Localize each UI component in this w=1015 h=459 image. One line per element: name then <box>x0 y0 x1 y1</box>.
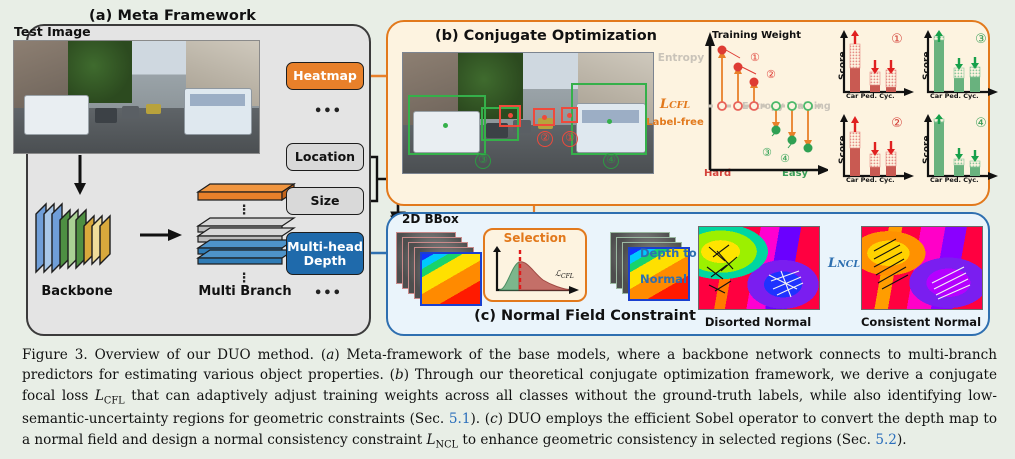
loss-cfl-label: LCFL <box>644 97 706 112</box>
score-chart-2-ylabel: Score <box>838 135 848 164</box>
loss-cfl-subscript: CFL <box>669 100 690 111</box>
svg-text:③: ③ <box>762 146 772 159</box>
consistent-normal-image <box>861 226 983 310</box>
loss-ncl-symbol: L <box>828 256 837 271</box>
score-chart-2-badge: ② <box>890 118 904 132</box>
depth-map-stack-selected <box>610 232 694 304</box>
depth-to-label: Depth to <box>640 246 697 260</box>
svg-text:①: ① <box>750 51 760 64</box>
red-dot-2 <box>542 115 547 120</box>
caption-s5: ). ( <box>471 411 491 427</box>
bbox-label: 2D BBox <box>402 212 459 226</box>
depth-map-stack-input <box>396 232 480 304</box>
caption-loss-ncl: L <box>426 432 435 448</box>
link-sec-5-2[interactable]: 5.2 <box>875 432 897 448</box>
link-sec-5-1[interactable]: 5.1 <box>449 411 471 427</box>
caption-s7: to enhance geometric consistency in sele… <box>458 432 875 448</box>
marker-circle-1: ① <box>562 131 578 147</box>
score-chart-1-ylabel: Score <box>838 51 848 80</box>
training-weight-plot: ① ② ③ ④ <box>700 28 828 188</box>
score-chart-2-xlabels: Car Ped. Cyc. <box>846 176 895 184</box>
multi-branch-label: Multi Branch <box>165 284 325 299</box>
head-location[interactable]: Location <box>286 143 364 171</box>
backbone-stack <box>32 196 132 280</box>
head-multi-head-depth[interactable]: Multi-head Depth <box>286 232 364 275</box>
score-chart-3: Score Car Ped. Cyc. ③ <box>912 30 1000 108</box>
score-chart-4-ylabel: Score <box>922 135 932 164</box>
head-heatmap[interactable]: Heatmap <box>286 62 364 90</box>
score-chart-1-xlabels: Car Ped. Cyc. <box>846 92 895 100</box>
caption-loss-ncl-sub: NCL <box>436 439 459 450</box>
score-chart-3-ylabel: Score <box>922 51 932 80</box>
selection-title: Selection <box>492 231 578 245</box>
test-image-label: Test Image <box>14 24 91 39</box>
svg-text:⋮: ⋮ <box>238 203 251 218</box>
head-size[interactable]: Size <box>286 187 364 215</box>
loss-ncl-subscript: NCL <box>837 259 860 270</box>
panel-a-title: (a) Meta Framework <box>0 8 345 24</box>
score-chart-3-xlabels: Car Ped. Cyc. <box>930 92 979 100</box>
red-dot-2b <box>508 113 513 118</box>
marker-circle-2: ② <box>537 131 553 147</box>
caption-s1: Figure 3. Overview of our DUO method. ( <box>22 347 326 363</box>
score-chart-2: Score Car Ped. Cyc. ② <box>828 114 916 192</box>
loss-cfl-symbol: L <box>660 97 669 112</box>
marker-circle-4: ④ <box>603 153 619 169</box>
score-chart-4-xlabels: Car Ped. Cyc. <box>930 176 979 184</box>
caption-s8: ). <box>897 432 907 448</box>
caption-loss-cfl: L <box>95 388 104 404</box>
green-dot-4 <box>607 119 612 124</box>
multi-branch-stack: ⋮ ⋮ <box>190 178 300 288</box>
disorted-normal-label: Disorted Normal <box>692 315 824 329</box>
marker-circle-3: ③ <box>475 153 491 169</box>
head-depth-line2: Depth <box>304 254 347 267</box>
score-chart-3-badge: ③ <box>974 34 988 48</box>
arrow-image-to-backbone <box>70 155 90 197</box>
score-chart-4: Score Car Ped. Cyc. ④ <box>912 114 1000 192</box>
figure-root: (a) Meta Framework Test Image Back <box>0 0 1015 459</box>
green-dot-3 <box>443 123 448 128</box>
red-dot-1 <box>567 113 572 118</box>
selection-histogram: ℒ CFL <box>489 246 581 300</box>
head-depth-line1: Multi-head <box>287 240 363 253</box>
label-free-label: Label-free <box>642 117 708 128</box>
normal-label: Normal <box>640 272 687 286</box>
loss-ncl-label: LNCL <box>814 256 874 271</box>
svg-text:②: ② <box>766 68 776 81</box>
panel-b-title: (b) Conjugate Optimization <box>386 28 706 44</box>
svg-text:④: ④ <box>780 152 790 165</box>
backbone-label: Backbone <box>12 284 142 299</box>
score-chart-1: Score Car Ped. Cyc. ① <box>828 30 916 108</box>
caption-loss-cfl-sub: CFL <box>104 396 125 407</box>
consistent-normal-label: Consistent Normal <box>855 315 987 329</box>
disorted-normal-image <box>698 226 820 310</box>
test-image <box>13 40 260 154</box>
figure-caption: Figure 3. Overview of our DUO method. (a… <box>22 345 997 453</box>
panel-b-annotated-image: ② ① ③ ④ <box>402 52 654 174</box>
arrow-backbone-to-branch <box>140 228 184 242</box>
score-chart-4-badge: ④ <box>974 118 988 132</box>
head-dots-bottom: ••• <box>314 286 342 301</box>
svg-text:CFL: CFL <box>561 273 574 280</box>
caption-b: b <box>395 367 404 383</box>
score-chart-1-badge: ① <box>890 34 904 48</box>
head-dots-top: ••• <box>314 104 342 119</box>
caption-c: c <box>490 411 498 427</box>
